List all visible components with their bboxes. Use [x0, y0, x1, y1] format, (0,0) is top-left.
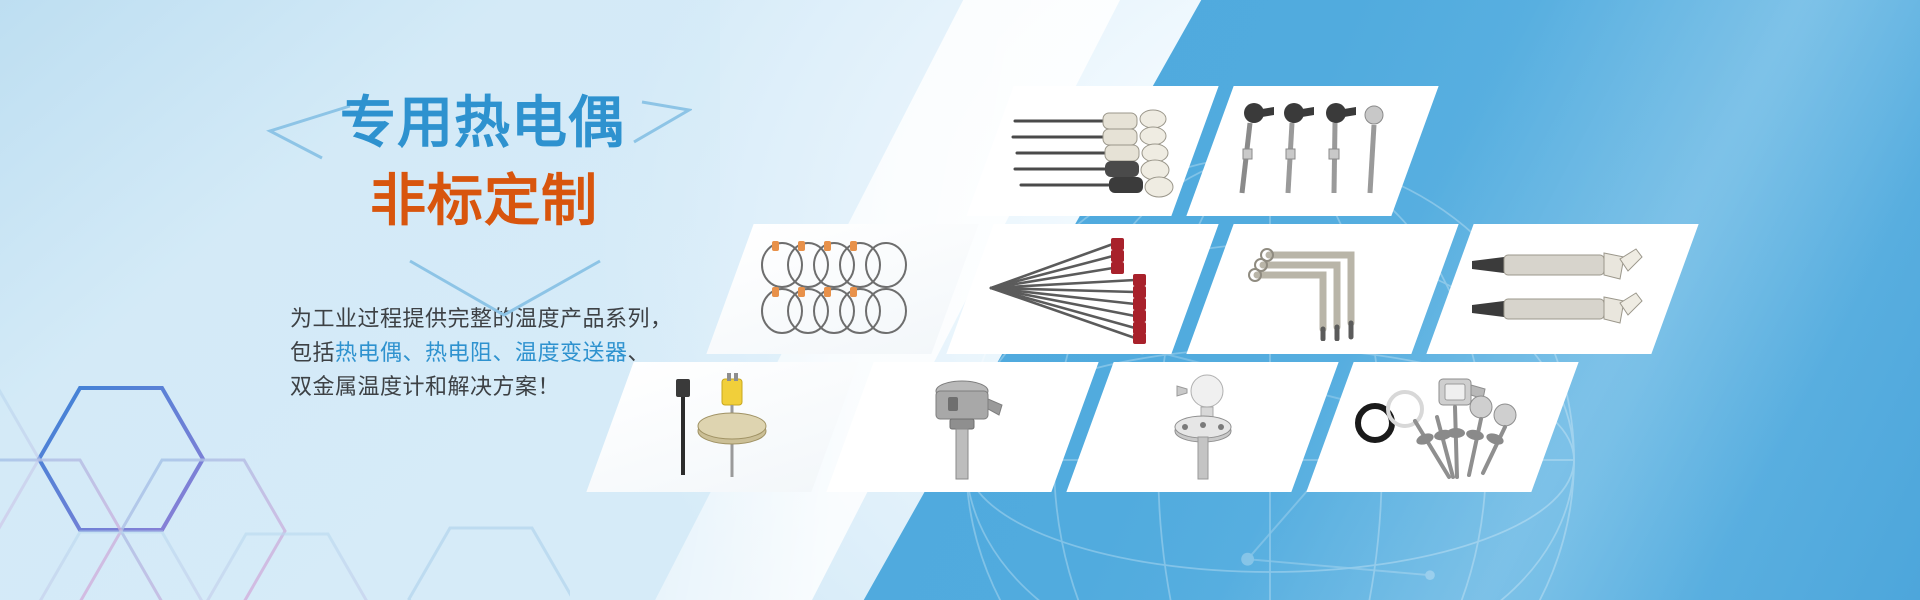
product-cell-l-shaped-probe-assemblies[interactable]	[1186, 224, 1458, 354]
promo-banner: 0 1 0 1 1 0 0 1 0 1 1 0 1 0 0 0 1 1 0 1 …	[0, 0, 1920, 600]
body-line-2-prefix: 包括	[290, 340, 335, 365]
product-image-explosion-proof-head-sensor	[850, 362, 1075, 492]
product-image-right-angle-thermocouple-probes	[1210, 86, 1415, 216]
product-cell-fan-spread-probes-red-plugs[interactable]	[946, 224, 1218, 354]
product-image-heavy-duty-sheath-sensors	[1450, 224, 1675, 354]
headline-primary: 专用热电偶	[340, 92, 625, 154]
product-cell-transmitter-probe-group[interactable]	[1306, 362, 1578, 492]
angle-bracket-left-icon	[264, 102, 352, 160]
product-image-l-shaped-probe-assemblies	[1210, 224, 1435, 354]
product-grid	[620, 0, 1920, 600]
product-image-surface-disc-thermocouple	[610, 362, 835, 492]
product-cell-surface-disc-thermocouple[interactable]	[586, 362, 858, 492]
product-cell-heavy-duty-sheath-sensors[interactable]	[1426, 224, 1698, 354]
product-image-armored-thermocouple-set	[990, 86, 1195, 216]
body-line-2-highlight: 热电偶、热电阻、温度变送器	[335, 340, 628, 365]
product-cell-right-angle-thermocouple-probes[interactable]	[1186, 86, 1438, 216]
product-image-transmitter-probe-group	[1330, 362, 1555, 492]
product-cell-explosion-proof-head-sensor[interactable]	[826, 362, 1098, 492]
product-image-flange-mount-sensor	[1090, 362, 1315, 492]
product-image-coiled-thermocouple-wires	[730, 224, 955, 354]
product-cell-coiled-thermocouple-wires[interactable]	[706, 224, 978, 354]
product-cell-armored-thermocouple-set[interactable]	[966, 86, 1218, 216]
product-cell-flange-mount-sensor[interactable]	[1066, 362, 1338, 492]
angle-bracket-down-icon	[404, 257, 604, 319]
product-image-fan-spread-probes-red-plugs	[970, 224, 1195, 354]
